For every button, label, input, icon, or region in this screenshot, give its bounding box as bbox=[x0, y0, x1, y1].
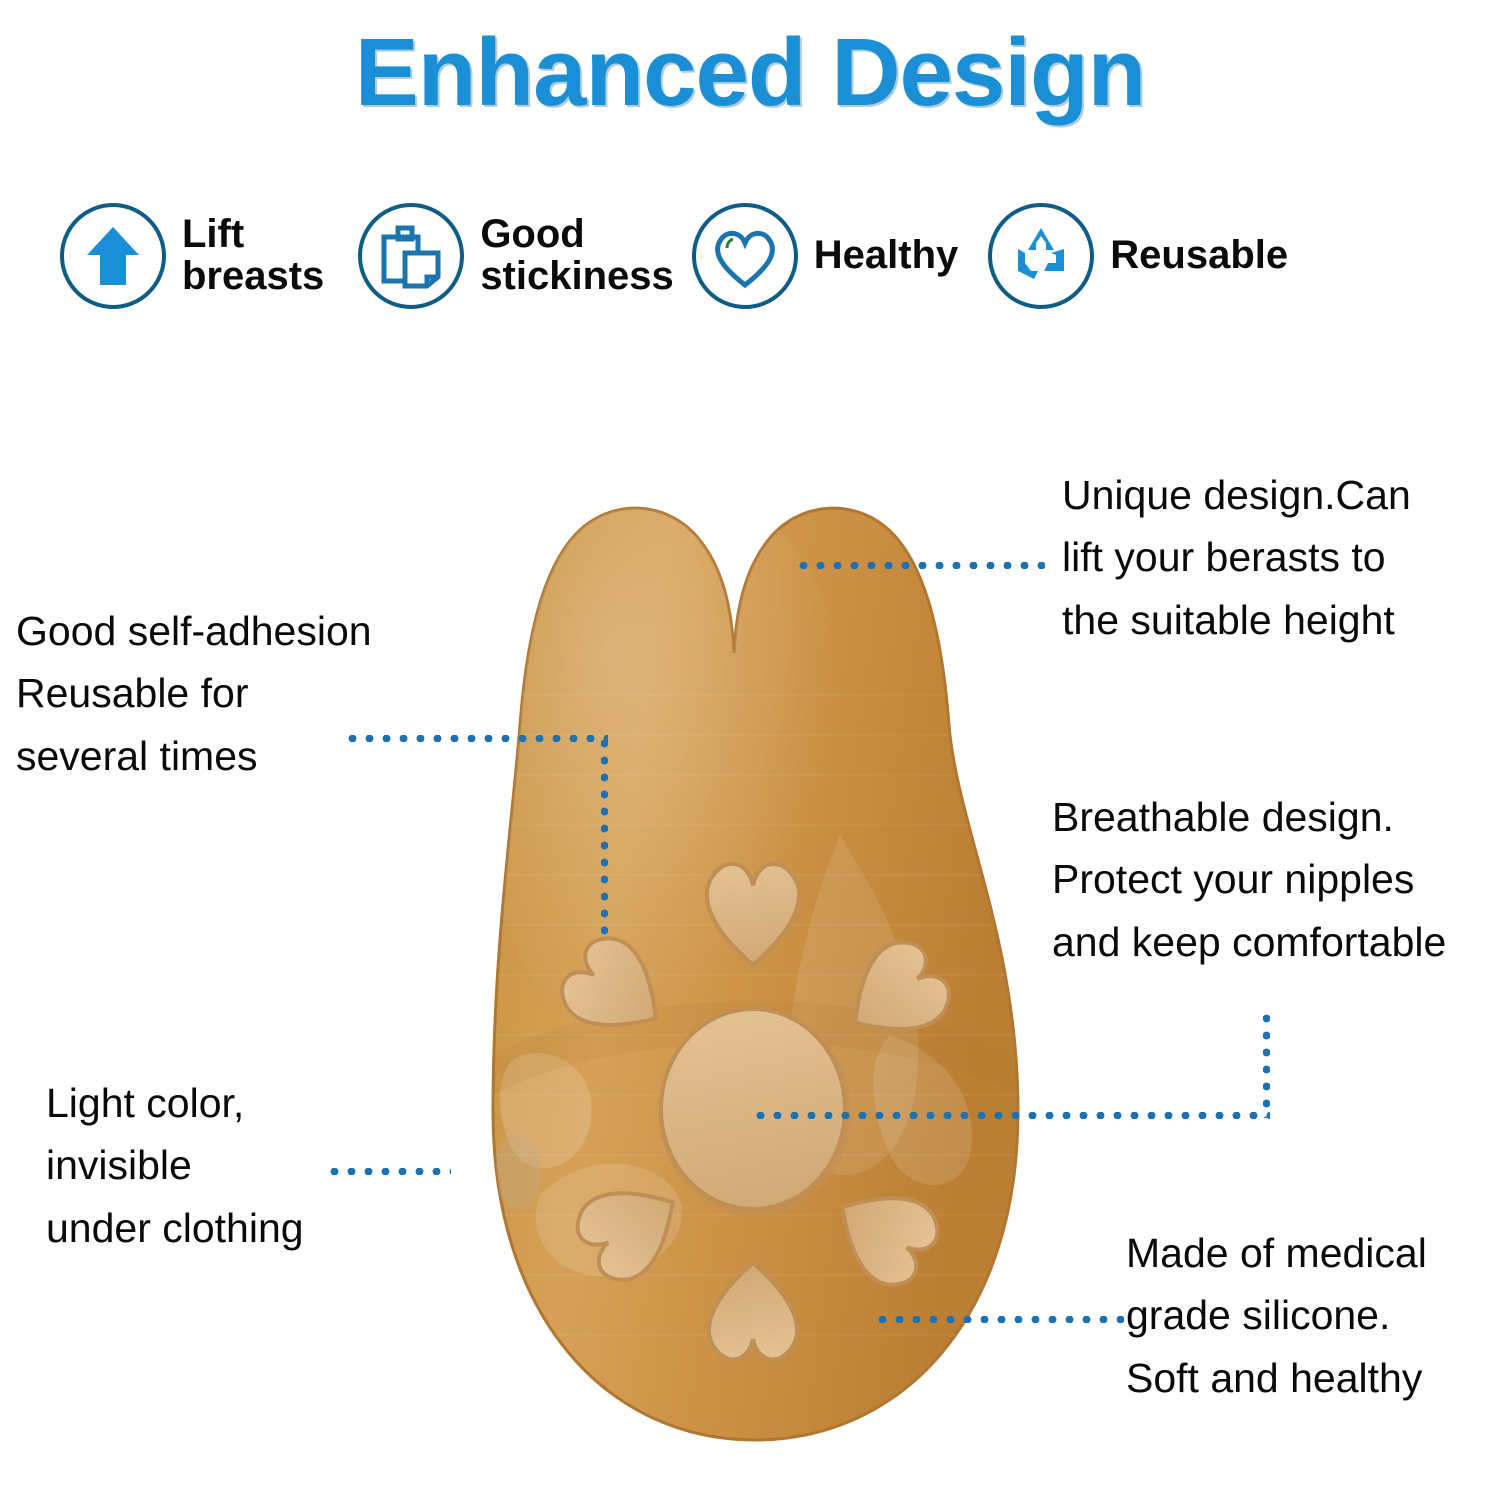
callout-good-self-adhesion: Good self-adhesion Reusable for several … bbox=[16, 600, 436, 787]
feature-item-lift-breasts: Lift breasts bbox=[60, 203, 324, 309]
callout-medical-grade-silicone: Made of medical grade silicone. Soft and… bbox=[1126, 1222, 1498, 1409]
product-image-silicone-bra-pad bbox=[370, 395, 1140, 1475]
feature-label-healthy: Healthy bbox=[814, 235, 959, 277]
leader-line-adhesion-vertical bbox=[601, 735, 608, 937]
up-arrow-icon bbox=[60, 203, 166, 309]
heart-outline-icon bbox=[692, 203, 798, 309]
leader-line-breathable-vertical bbox=[1263, 1010, 1270, 1118]
feature-item-reusable: Reusable bbox=[988, 203, 1288, 309]
infographic-canvas: Enhanced Design Lift breasts bbox=[0, 0, 1500, 1500]
feature-item-good-stickiness: Good stickiness bbox=[358, 203, 673, 309]
leader-line-breathable-horizontal bbox=[752, 1112, 1270, 1119]
callout-unique-design: Unique design.Can lift your berasts to t… bbox=[1062, 464, 1492, 651]
feature-label-reusable: Reusable bbox=[1110, 235, 1288, 277]
recycle-icon bbox=[988, 203, 1094, 309]
leader-line-medical-grade bbox=[874, 1316, 1124, 1323]
feature-item-healthy: Healthy bbox=[692, 203, 959, 309]
callout-light-color: Light color, invisible under clothing bbox=[46, 1072, 376, 1259]
feature-badge-row: Lift breasts Good stickiness bbox=[60, 196, 1440, 316]
page-title: Enhanced Design bbox=[0, 20, 1500, 126]
feature-label-lift-breasts: Lift breasts bbox=[182, 214, 324, 297]
callout-breathable-design: Breathable design. Protect your nipples … bbox=[1052, 786, 1500, 973]
feature-label-good-stickiness: Good stickiness bbox=[480, 214, 673, 297]
leader-line-unique-design bbox=[795, 562, 1045, 569]
clipboard-sticky-note-icon bbox=[358, 203, 464, 309]
